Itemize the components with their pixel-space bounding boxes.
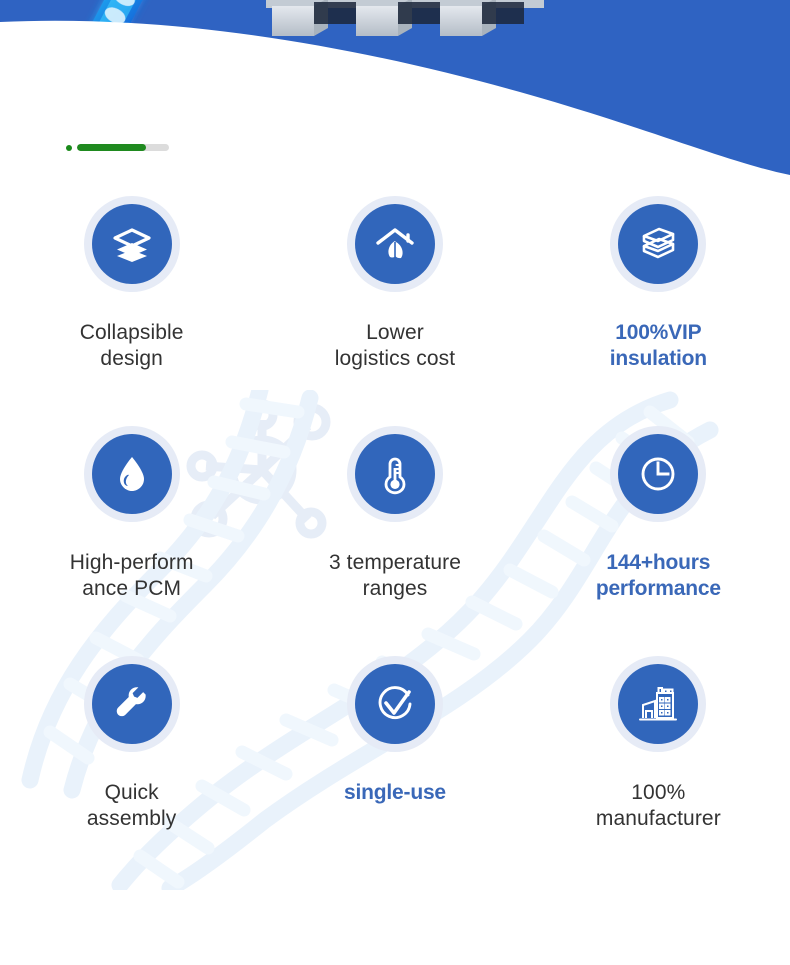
feature-icon-ring (610, 656, 706, 752)
feature-icon-ring (610, 196, 706, 292)
feature-icon-circle (92, 434, 172, 514)
feature-item-high-performance-pcm[interactable]: High-perform ance PCM (0, 420, 263, 650)
feature-icon-ring (347, 196, 443, 292)
feature-label: Quick assembly (87, 780, 177, 833)
product-feature-page: Collapsible design Lower logistics cost (0, 0, 790, 965)
feature-label: Lower logistics cost (335, 320, 455, 373)
progress-indicator[interactable] (66, 144, 169, 151)
feature-item-lower-logistics-cost[interactable]: Lower logistics cost (263, 190, 526, 420)
feature-label: 144+hours performance (596, 550, 721, 603)
progress-dot-icon (66, 145, 72, 151)
progress-track[interactable] (77, 144, 169, 151)
stacked-panels-icon (635, 221, 681, 267)
feature-label: 3 temperature ranges (329, 550, 461, 603)
feature-item-vip-insulation[interactable]: 100%VIP insulation (527, 190, 790, 420)
feature-icon-ring (347, 656, 443, 752)
feature-item-manufacturer[interactable]: 100% manufacturer (527, 650, 790, 880)
feature-grid: Collapsible design Lower logistics cost (0, 190, 790, 880)
wrench-icon (109, 681, 155, 727)
feature-icon-circle (618, 434, 698, 514)
feature-label: High-perform ance PCM (70, 550, 194, 603)
feature-item-collapsible-design[interactable]: Collapsible design (0, 190, 263, 420)
feature-item-quick-assembly[interactable]: Quick assembly (0, 650, 263, 880)
feature-label: 100%VIP insulation (610, 320, 707, 373)
feature-label: Collapsible design (80, 320, 184, 373)
feature-icon-circle (618, 664, 698, 744)
feature-icon-circle (355, 434, 435, 514)
clock-icon (635, 451, 681, 497)
layers-stack-icon (109, 221, 155, 267)
feature-icon-ring (84, 426, 180, 522)
feature-icon-ring (84, 196, 180, 292)
feature-icon-circle (355, 204, 435, 284)
feature-icon-circle (92, 204, 172, 284)
feature-icon-ring (347, 426, 443, 522)
factory-icon (635, 681, 681, 727)
feature-item-single-use[interactable]: single-use (263, 650, 526, 880)
thermometer-icon (372, 451, 418, 497)
feature-item-hours-performance[interactable]: 144+hours performance (527, 420, 790, 650)
progress-fill (77, 144, 146, 151)
eco-house-leaf-icon (372, 221, 418, 267)
feature-label: single-use (344, 780, 446, 806)
feature-item-temperature-ranges[interactable]: 3 temperature ranges (263, 420, 526, 650)
feature-label: 100% manufacturer (596, 780, 721, 833)
feature-icon-circle (618, 204, 698, 284)
feature-icon-ring (610, 426, 706, 522)
feature-icon-ring (84, 656, 180, 752)
feature-icon-circle (355, 664, 435, 744)
water-drop-icon (109, 451, 155, 497)
feature-icon-circle (92, 664, 172, 744)
check-circle-icon (372, 681, 418, 727)
